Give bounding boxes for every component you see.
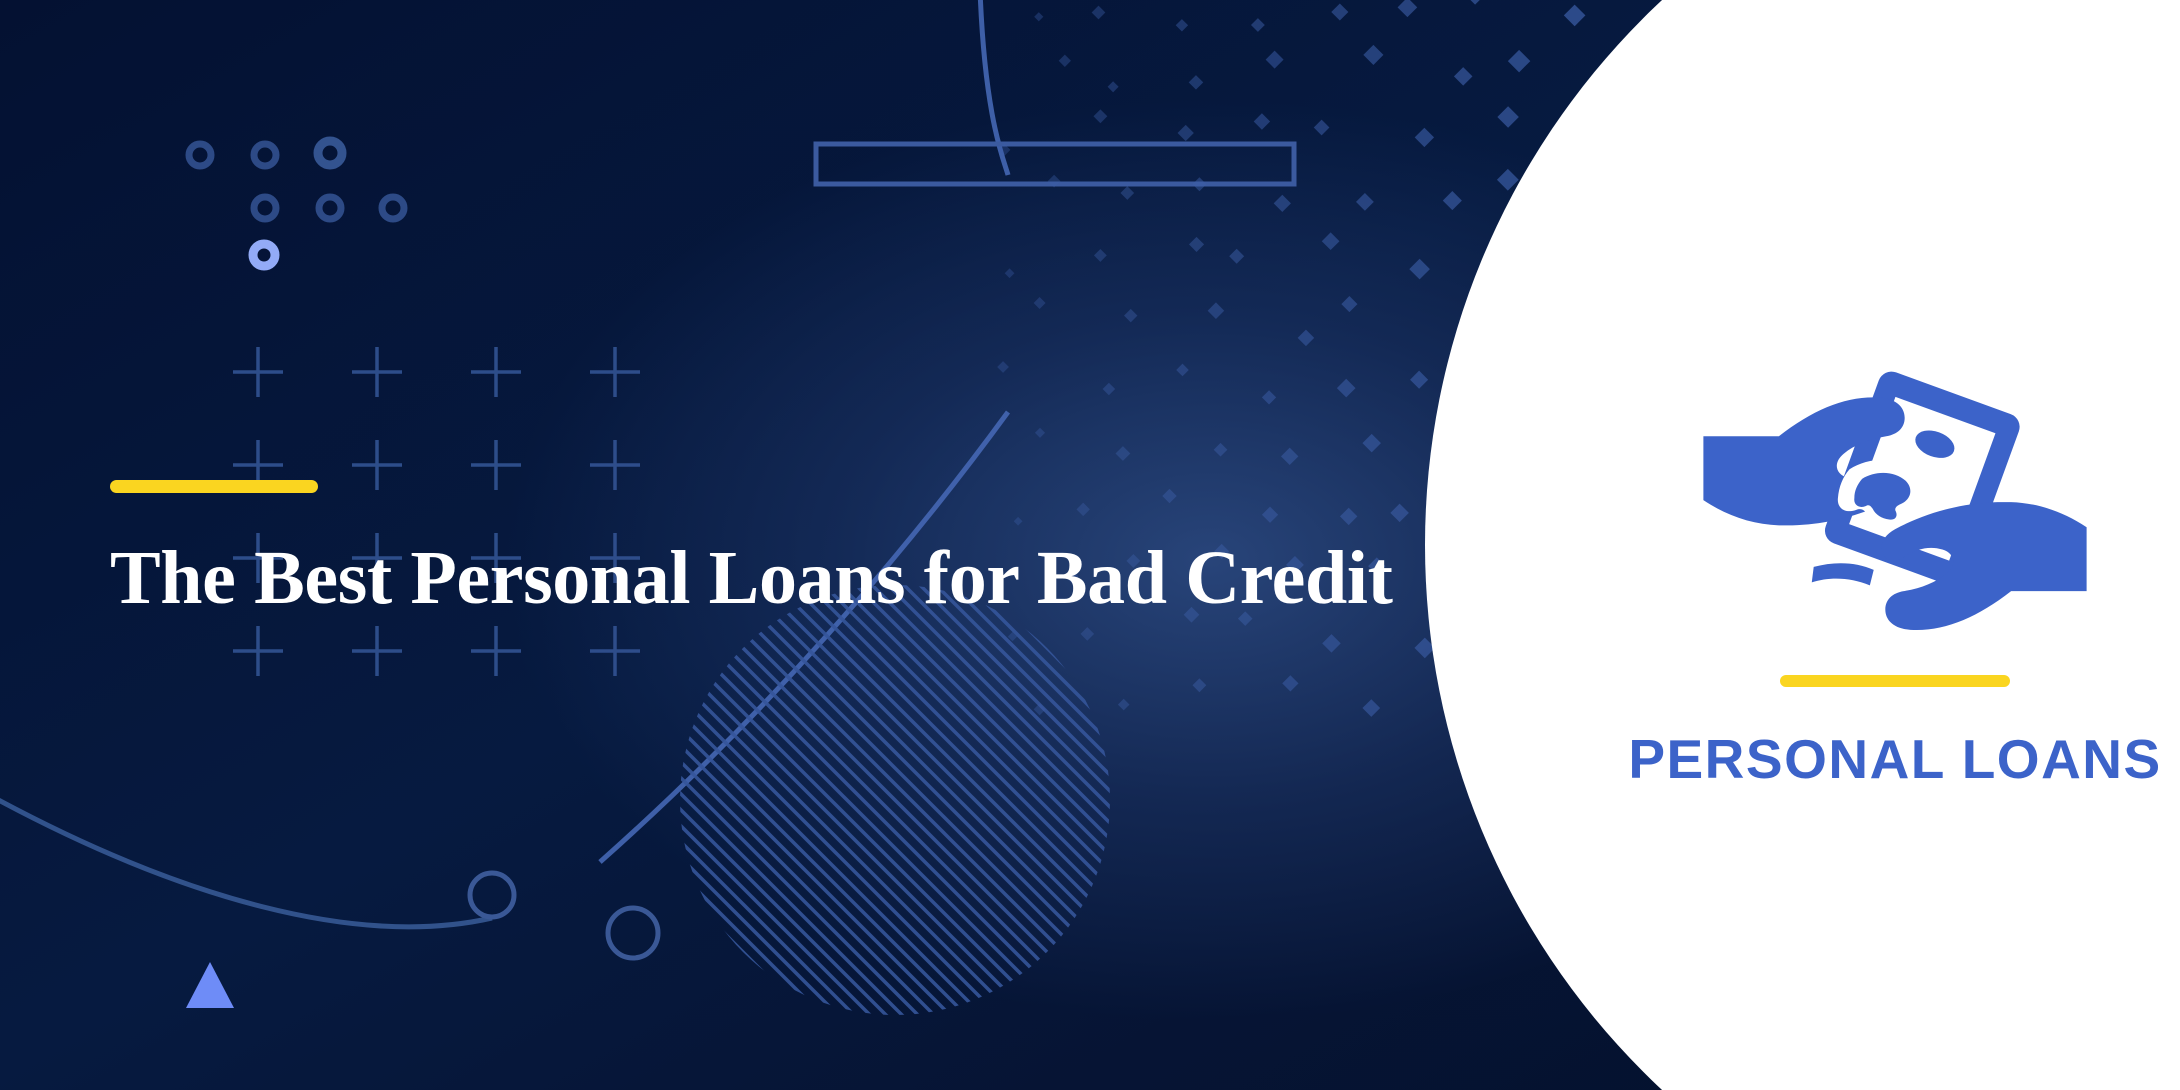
badge-label: PERSONAL LOANS bbox=[1628, 727, 2161, 791]
personal-loans-badge: PERSONAL LOANS bbox=[1660, 355, 2130, 791]
page-title: The Best Personal Loans for Bad Credit bbox=[110, 539, 1410, 618]
small-outline-circle-icon bbox=[608, 908, 658, 958]
triangle-decor-icon bbox=[186, 962, 234, 1008]
big-arc-decor bbox=[600, 0, 1008, 862]
headline-yellow-rule bbox=[110, 480, 318, 493]
headline-block: The Best Personal Loans for Bad Credit bbox=[110, 480, 1410, 618]
sweep-curve-decor bbox=[0, 790, 492, 927]
ring-dots-cluster bbox=[189, 141, 404, 266]
personal-loans-banner: The Best Personal Loans for Bad Credit bbox=[0, 0, 2180, 1090]
badge-yellow-rule bbox=[1780, 675, 2010, 687]
hands-exchanging-money-icon bbox=[1700, 355, 2090, 655]
curve-end-circle-icon bbox=[470, 873, 514, 917]
